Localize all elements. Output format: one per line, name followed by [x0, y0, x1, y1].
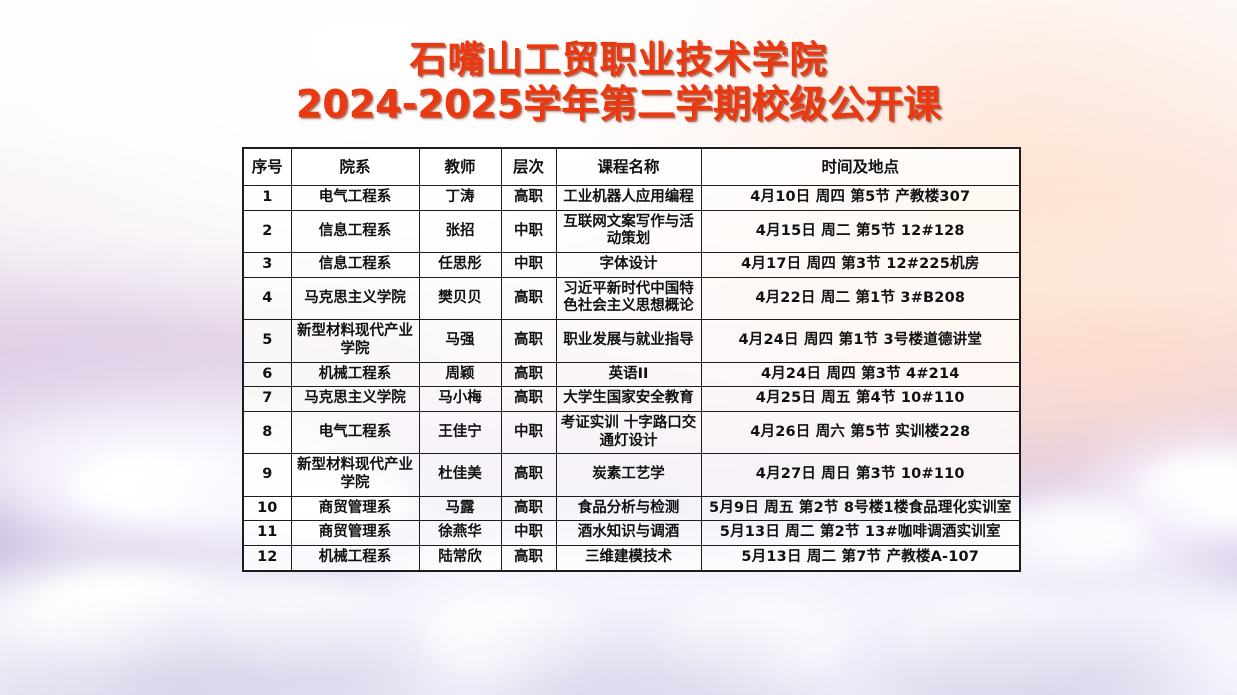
row-department: 商贸管理系 [291, 496, 419, 521]
column-header-course: 课程名称 [556, 148, 701, 186]
row-when-where: 4月25日 周五 第4节 10#110 [701, 387, 1020, 412]
row-when-where: 5月13日 周二 第7节 产教楼A-107 [701, 546, 1020, 571]
row-department: 新型材料现代产业学院 [291, 320, 419, 362]
row-level: 高职 [501, 362, 556, 387]
title-line-institution: 石嘴山工贸职业技术学院 [0, 38, 1237, 82]
row-teacher: 马露 [419, 496, 501, 521]
row-course: 字体设计 [556, 253, 701, 278]
column-header-when-where: 时间及地点 [701, 148, 1020, 186]
column-header-department: 院系 [291, 148, 419, 186]
row-index: 3 [243, 253, 291, 278]
row-level: 中职 [501, 411, 556, 453]
row-level: 高职 [501, 277, 556, 319]
table-row: 7马克思主义学院马小梅高职大学生国家安全教育4月25日 周五 第4节 10#11… [243, 387, 1020, 412]
row-level: 中职 [501, 253, 556, 278]
row-department: 新型材料现代产业学院 [291, 454, 419, 496]
table-row: 2信息工程系张招中职互联网文案写作与活动策划4月15日 周二 第5节 12#12… [243, 210, 1020, 252]
row-index: 12 [243, 546, 291, 571]
row-index: 11 [243, 521, 291, 546]
row-when-where: 4月15日 周二 第5节 12#128 [701, 210, 1020, 252]
row-department: 机械工程系 [291, 362, 419, 387]
row-department: 机械工程系 [291, 546, 419, 571]
table-row: 10商贸管理系马露高职食品分析与检测5月9日 周五 第2节 8号楼1楼食品理化实… [243, 496, 1020, 521]
row-course: 食品分析与检测 [556, 496, 701, 521]
page-title: 石嘴山工贸职业技术学院 2024-2025学年第二学期校级公开课 [0, 38, 1237, 126]
row-level: 高职 [501, 387, 556, 412]
row-course: 互联网文案写作与活动策划 [556, 210, 701, 252]
row-index: 10 [243, 496, 291, 521]
row-when-where: 4月27日 周日 第3节 10#110 [701, 454, 1020, 496]
row-department: 电气工程系 [291, 411, 419, 453]
slide-canvas: 石嘴山工贸职业技术学院 2024-2025学年第二学期校级公开课 序号 院系 教… [0, 0, 1237, 695]
row-teacher: 杜佳美 [419, 454, 501, 496]
row-level: 高职 [501, 496, 556, 521]
row-department: 信息工程系 [291, 210, 419, 252]
row-level: 高职 [501, 186, 556, 211]
row-course: 习近平新时代中国特色社会主义思想概论 [556, 277, 701, 319]
schedule-table-container: 序号 院系 教师 层次 课程名称 时间及地点 1电气工程系丁涛高职工业机器人应用… [242, 147, 1019, 572]
row-teacher: 陆常欣 [419, 546, 501, 571]
row-index: 2 [243, 210, 291, 252]
title-line-term: 2024-2025学年第二学期校级公开课 [0, 82, 1237, 127]
row-index: 7 [243, 387, 291, 412]
row-when-where: 5月13日 周二 第2节 13#咖啡调酒实训室 [701, 521, 1020, 546]
row-course: 三维建模技术 [556, 546, 701, 571]
row-department: 马克思主义学院 [291, 387, 419, 412]
row-course: 工业机器人应用编程 [556, 186, 701, 211]
row-teacher: 马小梅 [419, 387, 501, 412]
column-header-level: 层次 [501, 148, 556, 186]
row-department: 马克思主义学院 [291, 277, 419, 319]
row-when-where: 4月26日 周六 第5节 实训楼228 [701, 411, 1020, 453]
row-course: 考证实训 十字路口交通灯设计 [556, 411, 701, 453]
table-row: 5新型材料现代产业学院马强高职职业发展与就业指导4月24日 周四 第1节 3号楼… [243, 320, 1020, 362]
row-index: 8 [243, 411, 291, 453]
table-row: 12机械工程系陆常欣高职三维建模技术5月13日 周二 第7节 产教楼A-107 [243, 546, 1020, 571]
row-department: 电气工程系 [291, 186, 419, 211]
row-teacher: 张招 [419, 210, 501, 252]
row-department: 商贸管理系 [291, 521, 419, 546]
row-teacher: 樊贝贝 [419, 277, 501, 319]
column-header-teacher: 教师 [419, 148, 501, 186]
row-course: 炭素工艺学 [556, 454, 701, 496]
table-header-row: 序号 院系 教师 层次 课程名称 时间及地点 [243, 148, 1020, 186]
row-teacher: 马强 [419, 320, 501, 362]
row-course: 大学生国家安全教育 [556, 387, 701, 412]
row-teacher: 徐燕华 [419, 521, 501, 546]
row-department: 信息工程系 [291, 253, 419, 278]
row-teacher: 王佳宁 [419, 411, 501, 453]
row-index: 4 [243, 277, 291, 319]
row-when-where: 4月24日 周四 第3节 4#214 [701, 362, 1020, 387]
row-teacher: 周颖 [419, 362, 501, 387]
row-when-where: 4月10日 周四 第5节 产教楼307 [701, 186, 1020, 211]
row-index: 9 [243, 454, 291, 496]
table-row: 9新型材料现代产业学院杜佳美高职炭素工艺学4月27日 周日 第3节 10#110 [243, 454, 1020, 496]
table-row: 3信息工程系任思彤中职字体设计4月17日 周四 第3节 12#225机房 [243, 253, 1020, 278]
row-course: 职业发展与就业指导 [556, 320, 701, 362]
row-level: 中职 [501, 521, 556, 546]
row-level: 中职 [501, 210, 556, 252]
table-row: 1电气工程系丁涛高职工业机器人应用编程4月10日 周四 第5节 产教楼307 [243, 186, 1020, 211]
row-course: 酒水知识与调酒 [556, 521, 701, 546]
table-row: 8电气工程系王佳宁中职考证实训 十字路口交通灯设计4月26日 周六 第5节 实训… [243, 411, 1020, 453]
row-when-where: 4月24日 周四 第1节 3号楼道德讲堂 [701, 320, 1020, 362]
row-index: 6 [243, 362, 291, 387]
row-teacher: 任思彤 [419, 253, 501, 278]
row-level: 高职 [501, 546, 556, 571]
row-index: 1 [243, 186, 291, 211]
table-body: 1电气工程系丁涛高职工业机器人应用编程4月10日 周四 第5节 产教楼3072信… [243, 186, 1020, 571]
row-when-where: 4月22日 周二 第1节 3#B208 [701, 277, 1020, 319]
row-when-where: 4月17日 周四 第3节 12#225机房 [701, 253, 1020, 278]
row-course: 英语II [556, 362, 701, 387]
row-level: 高职 [501, 454, 556, 496]
row-index: 5 [243, 320, 291, 362]
table-row: 4马克思主义学院樊贝贝高职习近平新时代中国特色社会主义思想概论4月22日 周二 … [243, 277, 1020, 319]
table-row: 11商贸管理系徐燕华中职酒水知识与调酒5月13日 周二 第2节 13#咖啡调酒实… [243, 521, 1020, 546]
table-row: 6机械工程系周颖高职英语II4月24日 周四 第3节 4#214 [243, 362, 1020, 387]
column-header-index: 序号 [243, 148, 291, 186]
row-level: 高职 [501, 320, 556, 362]
row-when-where: 5月9日 周五 第2节 8号楼1楼食品理化实训室 [701, 496, 1020, 521]
open-class-schedule-table: 序号 院系 教师 层次 课程名称 时间及地点 1电气工程系丁涛高职工业机器人应用… [242, 147, 1021, 572]
row-teacher: 丁涛 [419, 186, 501, 211]
